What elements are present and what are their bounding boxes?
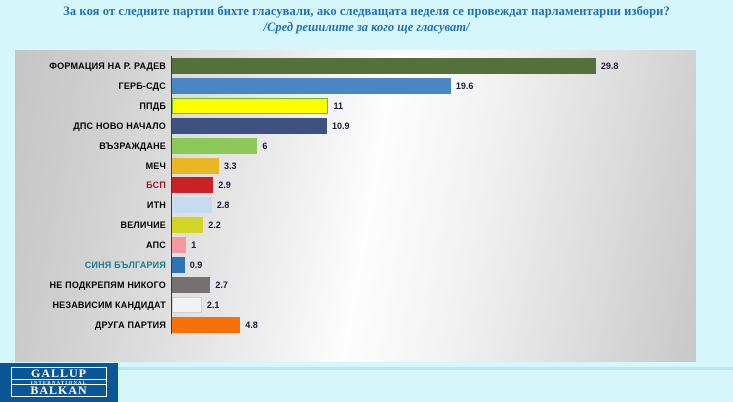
bar-category-label: ГЕРБ-СДС	[119, 76, 166, 96]
bar-value-label: 0.9	[190, 255, 203, 275]
page-subtitle: /Сред решилите за кого ще гласуват/	[0, 20, 733, 35]
bar-rect	[172, 177, 213, 193]
page-title: За коя от следните партии бихте гласувал…	[0, 4, 733, 19]
bar-row: ППДБ11	[15, 96, 696, 116]
bar-category-label: АПС	[146, 235, 166, 255]
gallup-logo-inner: GALLUP INTERNATIONAL BALKAN	[11, 367, 107, 398]
bar-category-label: СИНЯ БЪЛГАРИЯ	[85, 255, 166, 275]
bar-value-label: 2.1	[207, 295, 220, 315]
bar-value-label: 1	[191, 235, 196, 255]
bar-value-label: 2.2	[208, 215, 221, 235]
bar-row: НЕ ПОДКРЕПЯМ НИКОГО2.7	[15, 275, 696, 295]
bar-value-label: 19.6	[456, 76, 474, 96]
bar-value-label: 3.3	[224, 156, 237, 176]
bar-value-label: 2.9	[218, 175, 231, 195]
bar-rect	[172, 158, 219, 174]
bar-rect	[172, 297, 202, 313]
bar-rect	[172, 277, 210, 293]
bar-value-label: 6	[262, 136, 267, 156]
bar-value-label: 29.8	[601, 56, 619, 76]
chart-title-block: За коя от следните партии бихте гласувал…	[0, 4, 733, 35]
bar-rect	[172, 217, 203, 233]
bar-row: СИНЯ БЪЛГАРИЯ0.9	[15, 255, 696, 275]
bar-rect	[172, 138, 257, 154]
bar-value-label: 11	[333, 96, 343, 116]
bar-rect	[172, 317, 240, 333]
bar-category-label: НЕ ПОДКРЕПЯМ НИКОГО	[50, 275, 166, 295]
bar-row: ИТН2.8	[15, 195, 696, 215]
bar-rect	[172, 197, 212, 213]
bar-category-label: ДРУГА ПАРТИЯ	[95, 315, 166, 335]
bar-rect	[172, 237, 186, 253]
bar-row: ГЕРБ-СДС19.6	[15, 76, 696, 96]
bar-category-label: МЕЧ	[146, 156, 166, 176]
bar-row: ДРУГА ПАРТИЯ4.8	[15, 315, 696, 335]
bar-row: НЕЗАВИСИМ КАНДИДАТ2.1	[15, 295, 696, 315]
bar-rect	[172, 58, 596, 74]
bar-category-label: ИТН	[147, 195, 166, 215]
bar-value-label: 4.8	[245, 315, 258, 335]
chart-panel: ФОРМАЦИЯ НА Р. РАДЕВ29.8ГЕРБ-СДС19.6ППДБ…	[15, 50, 696, 362]
bar-category-label: ВЪЗРАЖДАНЕ	[99, 136, 166, 156]
bar-row: ФОРМАЦИЯ НА Р. РАДЕВ29.8	[15, 56, 696, 76]
bar-row: МЕЧ3.3	[15, 156, 696, 176]
bar-value-label: 10.9	[332, 116, 350, 136]
gallup-logo: GALLUP INTERNATIONAL BALKAN	[0, 363, 118, 402]
bar-value-label: 2.7	[215, 275, 228, 295]
bar-rect	[172, 118, 327, 134]
logo-word-balkan: BALKAN	[11, 384, 107, 397]
bar-category-label: ППДБ	[139, 96, 166, 116]
bar-category-label: ДПС НОВО НАЧАЛО	[73, 116, 166, 136]
bar-row: АПС1	[15, 235, 696, 255]
bar-rect	[172, 78, 451, 94]
bar-chart-plot-area: ФОРМАЦИЯ НА Р. РАДЕВ29.8ГЕРБ-СДС19.6ППДБ…	[15, 50, 696, 362]
bar-rect	[172, 98, 328, 114]
bar-rect	[172, 257, 185, 273]
bar-category-label: НЕЗАВИСИМ КАНДИДАТ	[52, 295, 166, 315]
bar-row: ВЕЛИЧИЕ2.2	[15, 215, 696, 235]
bar-category-label: ФОРМАЦИЯ НА Р. РАДЕВ	[49, 56, 166, 76]
bar-category-label: ВЕЛИЧИЕ	[121, 215, 166, 235]
bar-category-label: БСП	[146, 175, 166, 195]
bar-row: ДПС НОВО НАЧАЛО10.9	[15, 116, 696, 136]
bar-row: БСП2.9	[15, 175, 696, 195]
bar-row: ВЪЗРАЖДАНЕ6	[15, 136, 696, 156]
bar-value-label: 2.8	[217, 195, 230, 215]
